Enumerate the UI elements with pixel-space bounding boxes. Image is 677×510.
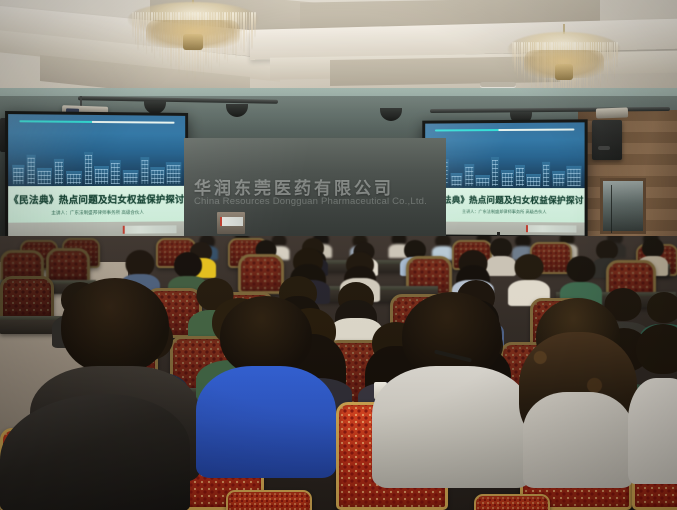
audience-seating-area <box>0 236 677 510</box>
conference-hall-photo: 《民法典》热点问题及妇女权益保护探讨 主讲人：广东法制盛邦律师事务所 高级合伙人 <box>0 0 677 510</box>
slide-skyline-photo <box>8 114 185 186</box>
attendee-foreground-grey-shirt <box>372 292 532 488</box>
ceiling-projector-right <box>596 107 628 118</box>
skyline-graphic <box>425 147 584 188</box>
presentation-slide: 《民法典》热点问题及妇女权益保护探讨 主讲人：广东法制盛邦律师事务所 高级合伙人 <box>425 122 584 235</box>
screen-surface: 《民法典》热点问题及妇女权益保护探讨 主讲人：广东法制盛邦律师事务所 高级合伙人 <box>425 122 584 235</box>
chair[interactable] <box>474 494 550 510</box>
slide-subtitle: 主讲人：广东法制盛邦律师事务所 高级合伙人 <box>51 210 144 217</box>
slide-skyline-photo <box>425 122 584 188</box>
slide-accent-line <box>19 121 175 124</box>
slide-title: 《民法典》热点问题及妇女权益保护探讨 <box>426 194 584 206</box>
banner-company-name-cn: 华润东莞医药有限公司 <box>194 174 438 199</box>
slide-sponsor-logo <box>122 225 176 234</box>
banner-company-name-en: China Resources Dongguan Pharmaceutical … <box>194 196 444 207</box>
slide-text-block: 《民法典》热点问题及妇女权益保护探讨 主讲人：广东法制盛邦律师事务所 高级合伙人 <box>425 188 584 222</box>
slide-title: 《民法典》热点问题及妇女权益保护探讨 <box>9 192 184 207</box>
slide-sponsor-logo <box>526 225 576 233</box>
left-projection-screen[interactable]: 《民法典》热点问题及妇女权益保护探讨 主讲人：广东法制盛邦律师事务所 高级合伙人 <box>5 111 188 241</box>
slide-subtitle: 主讲人：广东法制盛邦律师事务所 高级合伙人 <box>462 209 547 215</box>
wall-speaker-right <box>592 120 622 160</box>
right-projection-screen[interactable]: 《民法典》热点问题及妇女权益保护探讨 主讲人：广东法制盛邦律师事务所 高级合伙人 <box>422 119 587 238</box>
chandelier-left <box>128 0 258 94</box>
presentation-slide: 《民法典》热点问题及妇女权益保护探讨 主讲人：广东法制盛邦律师事务所 高级合伙人 <box>8 114 185 238</box>
chandelier-hub <box>183 34 204 50</box>
attendee-foreground-blue-shirt <box>196 296 336 478</box>
attendee-foreground-black-hoodie <box>0 394 190 510</box>
slide-accent-line <box>435 128 575 131</box>
attendee-foreground-curly-hair <box>510 298 646 488</box>
slide-text-block: 《民法典》热点问题及妇女权益保护探讨 主讲人：广东法制盛邦律师事务所 高级合伙人 <box>8 186 185 223</box>
chair[interactable] <box>226 490 312 510</box>
attendee <box>628 324 677 484</box>
podium-sign <box>220 217 243 226</box>
podium <box>217 212 245 234</box>
screen-surface: 《民法典》热点问题及妇女权益保护探讨 主讲人：广东法制盛邦律师事务所 高级合伙人 <box>8 114 185 238</box>
slide-footer-bar <box>425 221 584 236</box>
skyline-graphic <box>8 141 185 186</box>
control-booth-window <box>600 178 646 234</box>
chandelier-hub <box>555 64 573 80</box>
